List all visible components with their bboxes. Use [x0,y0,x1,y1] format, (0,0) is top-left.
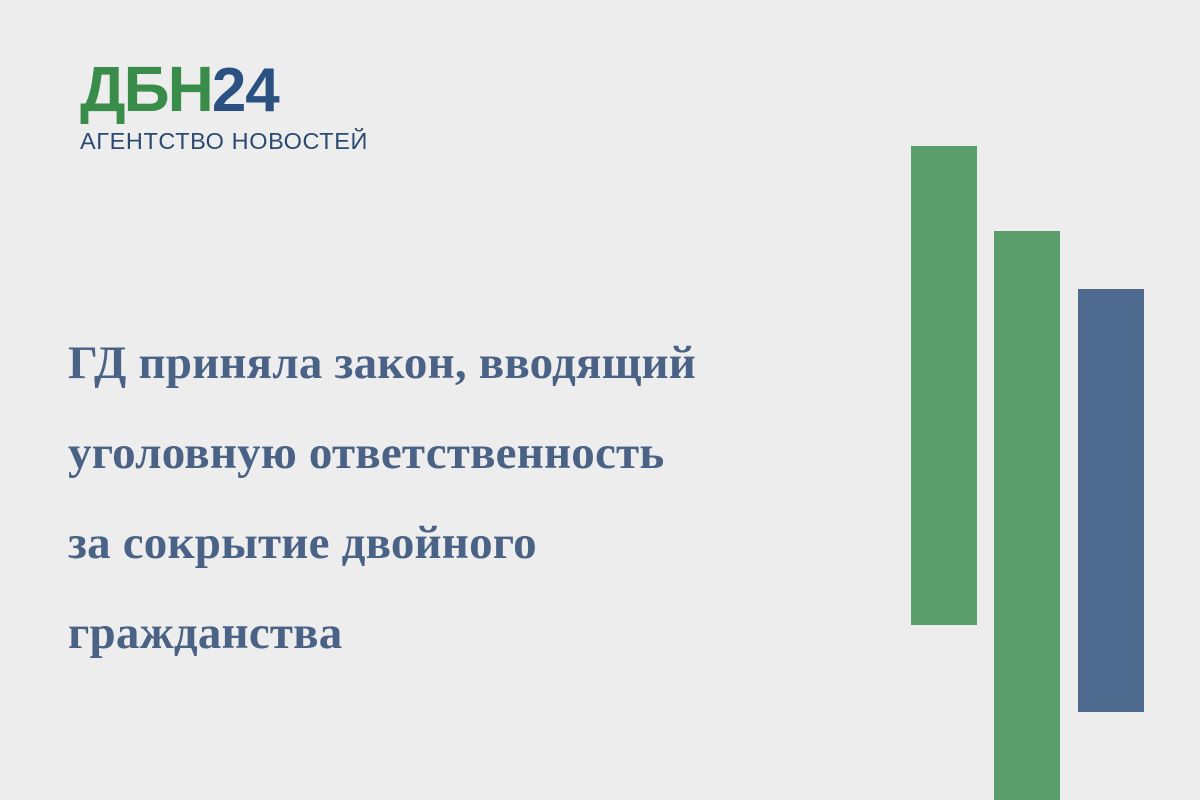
news-card: ДБН24 АГЕНТСТВО НОВОСТЕЙ ГД приняла зако… [0,0,1200,800]
logo-text-blue: 24 [212,56,279,125]
headline-line-3: за сокрытие двойного [68,498,868,588]
chart-bar-2 [994,231,1060,800]
headline-line-2: уголовную ответственность [68,408,868,498]
abn24-logo[interactable]: ДБН24 АГЕНТСТВО НОВОСТЕЙ [80,58,380,154]
headline: ГД приняла закон, вводящий уголовную отв… [68,318,868,678]
logo-text-green: ДБН [80,53,212,125]
logo-wordmark: ДБН24 [80,58,380,122]
chart-bar-3 [1078,289,1144,712]
headline-line-4: гражданства [68,588,868,678]
logo-tagline: АГЕНТСТВО НОВОСТЕЙ [80,128,380,154]
headline-line-1: ГД приняла закон, вводящий [68,318,868,408]
chart-bar-1 [911,146,977,625]
